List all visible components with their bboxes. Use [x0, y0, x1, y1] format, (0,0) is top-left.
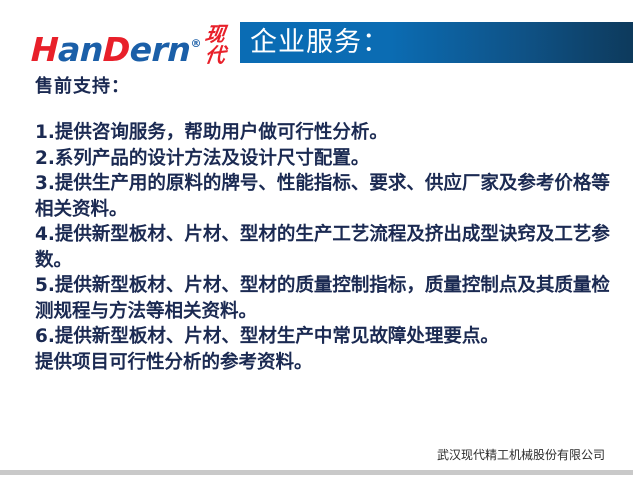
list-item: 4.提供新型板材、片材、型材的生产工艺流程及挤出成型诀窍及工艺参数。: [35, 222, 627, 273]
page-title: 企业服务：: [250, 25, 390, 60]
logo-chinese-mark: 现 代: [202, 24, 228, 68]
logo-letter-h: H: [30, 30, 58, 69]
support-item-list: 1.提供咨询服务，帮助用户做可行性分析。 2.系列产品的设计方法及设计尺寸配置。…: [35, 120, 627, 350]
slide-body: 售前支持： 1.提供咨询服务，帮助用户做可行性分析。 2.系列产品的设计方法及设…: [35, 74, 627, 375]
slide-header: HanDern ® 现 代 企业服务：: [0, 12, 633, 74]
spacer: [35, 100, 627, 120]
list-item: 2.系列产品的设计方法及设计尺寸配置。: [35, 146, 627, 172]
section-heading: 售前支持：: [35, 74, 627, 100]
logo-chinese-char-bottom: 代: [201, 45, 230, 66]
list-item: 1.提供咨询服务，帮助用户做可行性分析。: [35, 120, 627, 146]
bottom-divider: [0, 470, 633, 475]
logo-letter-d: D: [102, 30, 130, 69]
closing-note: 提供项目可行性分析的参考资料。: [35, 350, 627, 376]
list-item: 6.提供新型板材、片材、型材生产中常见故障处理要点。: [35, 324, 627, 350]
logo-letters-an: an: [57, 30, 103, 69]
slide-canvas: HanDern ® 现 代 企业服务： 售前支持： 1.提供咨询服务，帮助用户做…: [0, 0, 633, 478]
list-item: 5.提供新型板材、片材、型材的质量控制指标，质量控制点及其质量检测规程与方法等相…: [35, 273, 627, 324]
logo-wordmark: HanDern: [30, 33, 191, 66]
brand-logo: HanDern ® 现 代: [31, 26, 227, 66]
title-banner: 企业服务：: [240, 22, 633, 63]
logo-letters-ern: ern: [129, 30, 191, 69]
footer-company-name: 武汉现代精工机械股份有限公司: [437, 448, 605, 463]
list-item: 3.提供生产用的原料的牌号、性能指标、要求、供应厂家及参考价格等相关资料。: [35, 171, 627, 222]
logo-chinese-char-top: 现: [201, 24, 230, 45]
